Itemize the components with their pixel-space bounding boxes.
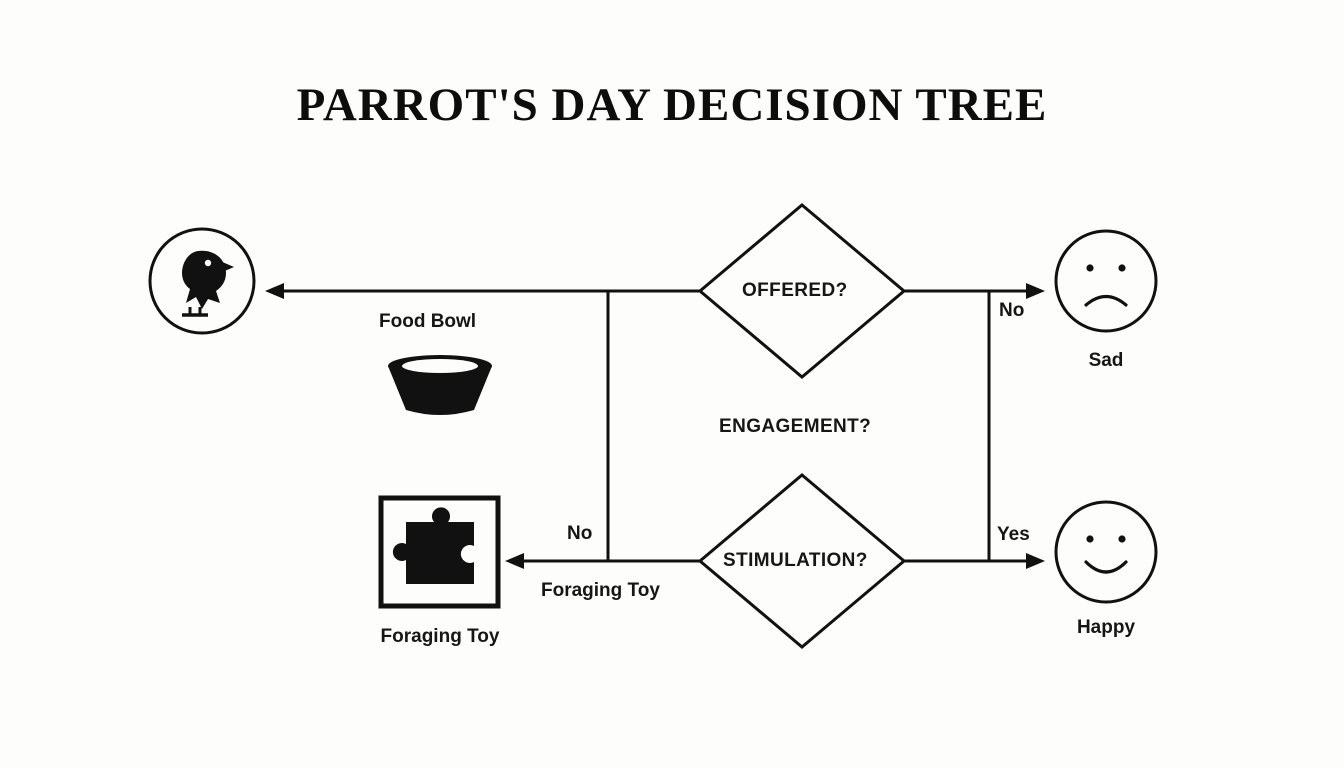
edge-label-offered-no: No: [999, 300, 1024, 322]
node-caption-happy: Happy: [1060, 617, 1152, 639]
edge-label-foraging-toy: Foraging Toy: [541, 580, 660, 602]
edge-label-food-bowl: Food Bowl: [379, 311, 476, 333]
decision-stimulation-label: STIMULATION?: [723, 550, 868, 572]
engagement-label: ENGAGEMENT?: [719, 416, 871, 438]
connector-lines: [0, 0, 1344, 768]
diagram-canvas: PARROT'S DAY DECISION TREE: [0, 0, 1344, 768]
edge-label-stimulation-no: No: [567, 523, 592, 545]
node-caption-foraging-toy: Foraging Toy: [362, 626, 518, 648]
node-caption-sad: Sad: [1066, 350, 1146, 372]
edge-label-stimulation-yes: Yes: [997, 524, 1030, 546]
decision-offered-label: OFFERED?: [742, 280, 848, 302]
